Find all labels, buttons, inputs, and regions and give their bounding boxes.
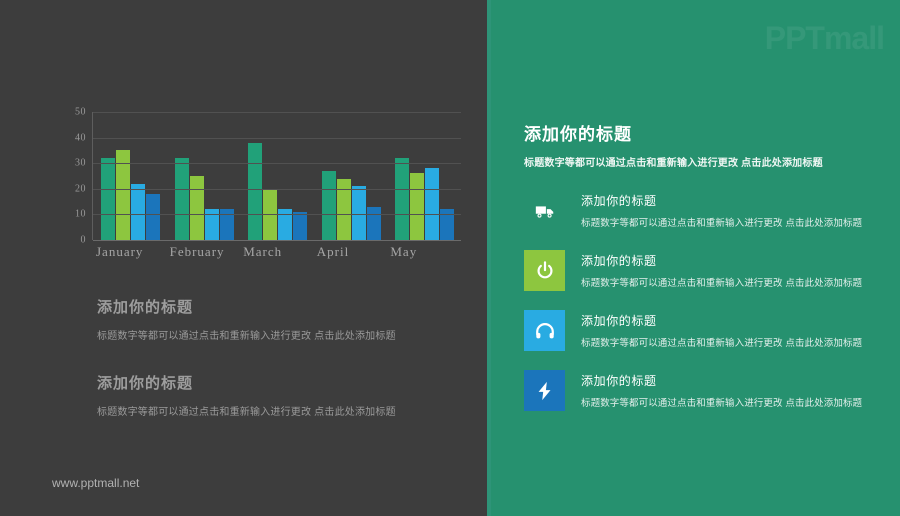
right-panel-title: 添加你的标题 bbox=[524, 120, 884, 145]
x-axis-tick-label: March bbox=[239, 244, 313, 260]
chart-gridline bbox=[93, 112, 461, 113]
x-axis-tick-label: May bbox=[386, 244, 460, 260]
feature-text: 添加你的标题标题数字等都可以通过点击和重新输入进行更改 点击此处添加标题 bbox=[581, 310, 862, 349]
feature-description: 标题数字等都可以通过点击和重新输入进行更改 点击此处添加标题 bbox=[581, 215, 862, 229]
bar-chart: 50403020100 JanuaryFebruaryMarchAprilMay bbox=[60, 112, 460, 240]
chart-bar[interactable] bbox=[101, 158, 115, 240]
chart-bar[interactable] bbox=[322, 171, 336, 240]
feature-description: 标题数字等都可以通过点击和重新输入进行更改 点击此处添加标题 bbox=[581, 335, 862, 349]
footer-url[interactable]: www.pptmall.net bbox=[52, 476, 139, 490]
feature-title: 添加你的标题 bbox=[581, 192, 862, 209]
chart-bar[interactable] bbox=[337, 179, 351, 240]
chart-bar-group bbox=[167, 112, 241, 240]
left-block-title: 添加你的标题 bbox=[97, 296, 437, 317]
chart-bar[interactable] bbox=[175, 158, 189, 240]
y-axis-tick-label: 40 bbox=[75, 132, 86, 143]
y-axis-labels: 50403020100 bbox=[60, 112, 86, 240]
lightning-bolt-icon[interactable] bbox=[524, 370, 565, 411]
feature-row[interactable]: 添加你的标题标题数字等都可以通过点击和重新输入进行更改 点击此处添加标题 bbox=[524, 190, 896, 250]
left-text-block[interactable]: 添加你的标题 标题数字等都可以通过点击和重新输入进行更改 点击此处添加标题 bbox=[97, 296, 437, 342]
chart-bar[interactable] bbox=[395, 158, 409, 240]
y-axis-tick-label: 30 bbox=[75, 158, 86, 169]
chart-bar-groups bbox=[93, 112, 461, 240]
left-text-blocks: 添加你的标题 标题数字等都可以通过点击和重新输入进行更改 点击此处添加标题 添加… bbox=[97, 296, 437, 448]
feature-description: 标题数字等都可以通过点击和重新输入进行更改 点击此处添加标题 bbox=[581, 395, 862, 409]
headphones-icon[interactable] bbox=[524, 310, 565, 351]
x-axis-tick-label: April bbox=[313, 244, 387, 260]
chart-bar[interactable] bbox=[190, 176, 204, 240]
power-icon[interactable] bbox=[524, 250, 565, 291]
feature-text: 添加你的标题标题数字等都可以通过点击和重新输入进行更改 点击此处添加标题 bbox=[581, 250, 862, 289]
x-axis-tick-label: January bbox=[92, 244, 166, 260]
feature-text: 添加你的标题标题数字等都可以通过点击和重新输入进行更改 点击此处添加标题 bbox=[581, 370, 862, 409]
chart-bar[interactable] bbox=[248, 143, 262, 240]
chart-bar-group bbox=[314, 112, 388, 240]
feature-title: 添加你的标题 bbox=[581, 312, 862, 329]
feature-description: 标题数字等都可以通过点击和重新输入进行更改 点击此处添加标题 bbox=[581, 275, 862, 289]
left-block-description: 标题数字等都可以通过点击和重新输入进行更改 点击此处添加标题 bbox=[97, 327, 437, 342]
left-block-title: 添加你的标题 bbox=[97, 372, 437, 393]
chart-gridline bbox=[93, 240, 461, 241]
x-axis-tick-label: February bbox=[166, 244, 240, 260]
chart-gridline bbox=[93, 138, 461, 139]
chart-bar[interactable] bbox=[367, 207, 381, 240]
chart-bar-group bbox=[387, 112, 461, 240]
feature-list: 添加你的标题标题数字等都可以通过点击和重新输入进行更改 点击此处添加标题添加你的… bbox=[524, 190, 896, 430]
y-axis-tick-label: 20 bbox=[75, 183, 86, 194]
left-block-description: 标题数字等都可以通过点击和重新输入进行更改 点击此处添加标题 bbox=[97, 403, 437, 418]
feature-row[interactable]: 添加你的标题标题数字等都可以通过点击和重新输入进行更改 点击此处添加标题 bbox=[524, 370, 896, 430]
chart-gridline bbox=[93, 214, 461, 215]
slide-root: 50403020100 JanuaryFebruaryMarchAprilMay… bbox=[0, 0, 900, 516]
chart-bar-group bbox=[240, 112, 314, 240]
chart-bar[interactable] bbox=[146, 194, 160, 240]
chart-bar[interactable] bbox=[293, 212, 307, 240]
chart-bar[interactable] bbox=[425, 168, 439, 240]
y-axis-tick-label: 10 bbox=[75, 209, 86, 220]
feature-row[interactable]: 添加你的标题标题数字等都可以通过点击和重新输入进行更改 点击此处添加标题 bbox=[524, 250, 896, 310]
chart-bar[interactable] bbox=[352, 186, 366, 240]
left-text-block[interactable]: 添加你的标题 标题数字等都可以通过点击和重新输入进行更改 点击此处添加标题 bbox=[97, 372, 437, 418]
truck-icon[interactable] bbox=[524, 190, 565, 231]
y-axis-tick-label: 50 bbox=[75, 107, 86, 118]
feature-title: 添加你的标题 bbox=[581, 372, 862, 389]
pptmall-watermark: PPTmall bbox=[765, 20, 884, 57]
y-axis-tick-label: 0 bbox=[81, 235, 87, 246]
chart-bar[interactable] bbox=[131, 184, 145, 240]
chart-gridline bbox=[93, 189, 461, 190]
right-panel-subtitle: 标题数字等都可以通过点击和重新输入进行更改 点击此处添加标题 bbox=[524, 154, 884, 169]
chart-bar-group bbox=[93, 112, 167, 240]
right-panel-header: 添加你的标题 标题数字等都可以通过点击和重新输入进行更改 点击此处添加标题 bbox=[524, 120, 884, 169]
x-axis-labels: JanuaryFebruaryMarchAprilMay bbox=[92, 244, 460, 260]
chart-plot-area bbox=[92, 112, 461, 240]
right-panel: PPTmall 添加你的标题 标题数字等都可以通过点击和重新输入进行更改 点击此… bbox=[491, 0, 900, 516]
chart-gridline bbox=[93, 163, 461, 164]
feature-row[interactable]: 添加你的标题标题数字等都可以通过点击和重新输入进行更改 点击此处添加标题 bbox=[524, 310, 896, 370]
feature-title: 添加你的标题 bbox=[581, 252, 862, 269]
chart-bar[interactable] bbox=[410, 173, 424, 240]
feature-text: 添加你的标题标题数字等都可以通过点击和重新输入进行更改 点击此处添加标题 bbox=[581, 190, 862, 229]
